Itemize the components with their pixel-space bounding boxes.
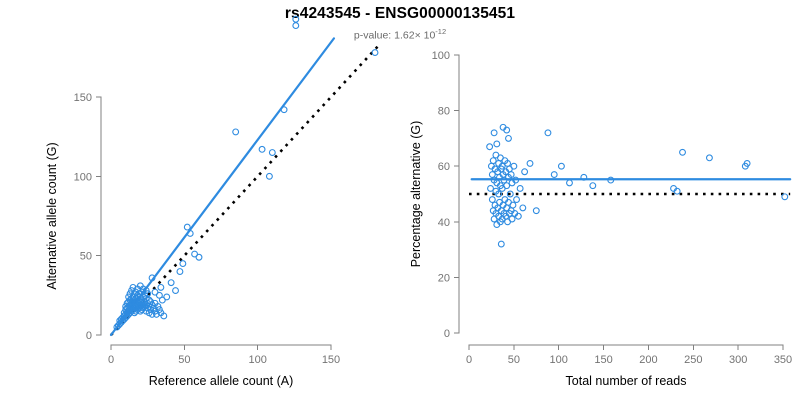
data-point <box>184 224 190 230</box>
data-point-group <box>487 124 788 247</box>
y-tick-label: 40 <box>438 217 450 229</box>
data-point <box>494 141 500 147</box>
data-point <box>533 208 539 214</box>
x-tick-label: 50 <box>508 354 520 366</box>
scatter-panel-left: 050100150050100150Reference allele count… <box>0 0 400 400</box>
data-point <box>168 280 174 286</box>
right-plot-svg: 050100150200250300350020406080100Total n… <box>400 0 800 400</box>
data-point <box>196 254 202 260</box>
x-tick-label: 100 <box>550 354 568 366</box>
data-point <box>510 202 516 208</box>
data-point <box>259 146 265 152</box>
y-tick-label: 100 <box>432 50 450 62</box>
data-point <box>233 129 239 135</box>
data-point <box>267 173 273 179</box>
x-tick-label: 350 <box>774 354 792 366</box>
x-tick-label: 50 <box>178 354 190 366</box>
data-point <box>707 155 713 161</box>
data-point <box>158 285 164 291</box>
data-point <box>567 180 573 186</box>
x-tick-label: 0 <box>108 354 114 366</box>
y-axis-title: Percentage alternative (G) <box>409 121 423 268</box>
data-point <box>522 169 528 175</box>
data-point <box>509 216 515 222</box>
data-point <box>527 161 533 167</box>
x-tick-label: 100 <box>248 354 266 366</box>
data-point <box>180 261 186 267</box>
data-point <box>680 149 686 155</box>
data-point <box>559 163 565 169</box>
x-axis-title: Reference allele count (A) <box>149 374 294 388</box>
data-point <box>372 50 378 56</box>
x-tick-label: 150 <box>322 354 340 366</box>
data-point <box>590 183 596 189</box>
data-point <box>545 130 551 136</box>
data-point <box>157 292 163 298</box>
x-axis-title: Total number of reads <box>566 374 687 388</box>
data-point <box>514 197 520 203</box>
y-tick-label: 150 <box>74 92 92 104</box>
data-point <box>491 130 497 136</box>
data-point <box>281 107 287 113</box>
x-tick-label: 200 <box>639 354 657 366</box>
data-point <box>487 144 493 150</box>
data-point <box>506 136 512 142</box>
x-tick-label: 150 <box>594 354 612 366</box>
data-point <box>498 241 504 247</box>
y-tick-label: 80 <box>438 106 450 118</box>
y-tick-label: 50 <box>80 251 92 263</box>
y-axis-title: Alternative allele count (G) <box>45 142 59 289</box>
data-point <box>164 294 170 300</box>
data-point <box>511 163 517 169</box>
left-plot-svg: 050100150050100150Reference allele count… <box>0 0 400 400</box>
y-tick-label: 100 <box>74 171 92 183</box>
data-point <box>269 150 275 156</box>
y-tick-label: 0 <box>86 330 92 342</box>
reference-line <box>111 43 381 335</box>
scatter-panel-right: 050100150200250300350020406080100Total n… <box>400 0 800 400</box>
x-tick-label: 0 <box>466 354 472 366</box>
data-point <box>520 205 526 211</box>
y-tick-label: 20 <box>438 272 450 284</box>
data-point <box>782 194 788 200</box>
data-point <box>489 197 495 203</box>
x-tick-label: 250 <box>684 354 702 366</box>
data-point <box>293 23 299 29</box>
y-tick-label: 0 <box>444 328 450 340</box>
y-tick-label: 60 <box>438 161 450 173</box>
data-point <box>293 16 299 22</box>
data-point <box>517 186 523 192</box>
x-tick-label: 300 <box>729 354 747 366</box>
data-point <box>177 269 183 275</box>
data-point <box>551 172 557 178</box>
data-point-group <box>114 16 378 330</box>
data-point <box>173 288 179 294</box>
figure-root: rs4243545 - ENSG00000135451 p-value: 1.6… <box>0 0 800 400</box>
